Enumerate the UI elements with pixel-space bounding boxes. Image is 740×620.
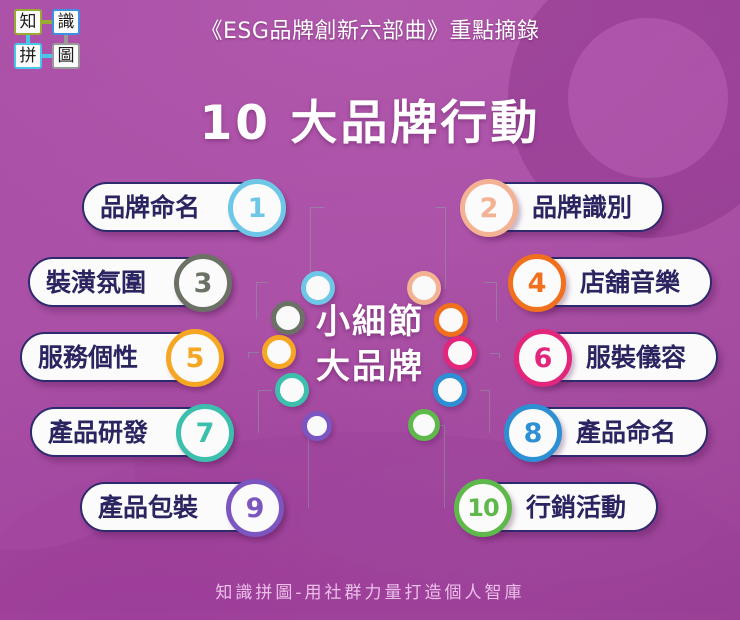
logo-tile-3: 拼 (14, 43, 42, 69)
hub-dot-9[interactable] (302, 411, 332, 441)
logo-tile-4: 圖 (52, 43, 80, 69)
action-pill-label-5: 服務個性 (38, 345, 138, 370)
action-pill-number-1: 1 (228, 179, 286, 237)
connector-segment (484, 282, 497, 321)
action-pill-3[interactable]: 裝潢氛圍3 (28, 257, 228, 307)
footer-tagline: 知識拼圖-用社群力量打造個人智庫 (0, 578, 740, 603)
action-pill-label-9: 產品包裝 (98, 495, 198, 520)
action-pill-label-8: 產品命名 (576, 420, 676, 445)
action-pill-label-7: 產品研發 (48, 420, 148, 445)
connector-segment (490, 353, 500, 358)
action-pill-number-8: 8 (504, 404, 562, 462)
action-pill-label-2: 品牌識別 (532, 195, 632, 220)
action-pill-1[interactable]: 品牌命名1 (82, 182, 282, 232)
action-pill-number-3: 3 (174, 254, 232, 312)
connector-segment (256, 282, 268, 319)
action-pill-label-6: 服裝儀容 (586, 345, 686, 370)
connector-segment (480, 390, 490, 433)
subtitle: 《ESG品牌創新六部曲》重點摘錄 (0, 13, 740, 45)
action-pill-number-4: 4 (508, 254, 566, 312)
action-pill-6[interactable]: 6服裝儀容 (518, 332, 718, 382)
hub-dot-10[interactable] (408, 409, 440, 441)
center-line-2: 大品牌 (270, 345, 470, 390)
action-pill-number-10: 10 (454, 479, 512, 537)
action-pill-4[interactable]: 4店舖音樂 (512, 257, 712, 307)
action-pill-10[interactable]: 10行銷活動 (458, 482, 658, 532)
page-title: 10 大品牌行動 (0, 84, 740, 153)
action-pill-2[interactable]: 2品牌識別 (464, 182, 664, 232)
connector-segment (258, 390, 272, 433)
center-line-1: 小細節 (270, 300, 470, 345)
action-pill-label-10: 行銷活動 (526, 495, 626, 520)
action-pill-label-4: 店舖音樂 (580, 270, 680, 295)
action-pill-number-9: 9 (226, 479, 284, 537)
action-pill-7[interactable]: 產品研發7 (30, 407, 230, 457)
action-pill-5[interactable]: 服務個性5 (20, 332, 220, 382)
action-pill-9[interactable]: 產品包裝9 (80, 482, 280, 532)
action-pill-8[interactable]: 8產品命名 (508, 407, 708, 457)
action-pill-number-2: 2 (460, 179, 518, 237)
action-pill-number-6: 6 (514, 329, 572, 387)
connector-segment (248, 352, 259, 358)
action-pill-number-7: 7 (176, 404, 234, 462)
center-label: 小細節 大品牌 (270, 300, 470, 390)
logo-connector-bottom (42, 54, 52, 58)
action-pill-number-5: 5 (166, 329, 224, 387)
action-pill-label-3: 裝潢氛圍 (46, 270, 146, 295)
action-pill-label-1: 品牌命名 (100, 195, 200, 220)
infographic-canvas: 知 識 拼 圖 《ESG品牌創新六部曲》重點摘錄 10 大品牌行動 小細節 大品… (0, 0, 740, 620)
